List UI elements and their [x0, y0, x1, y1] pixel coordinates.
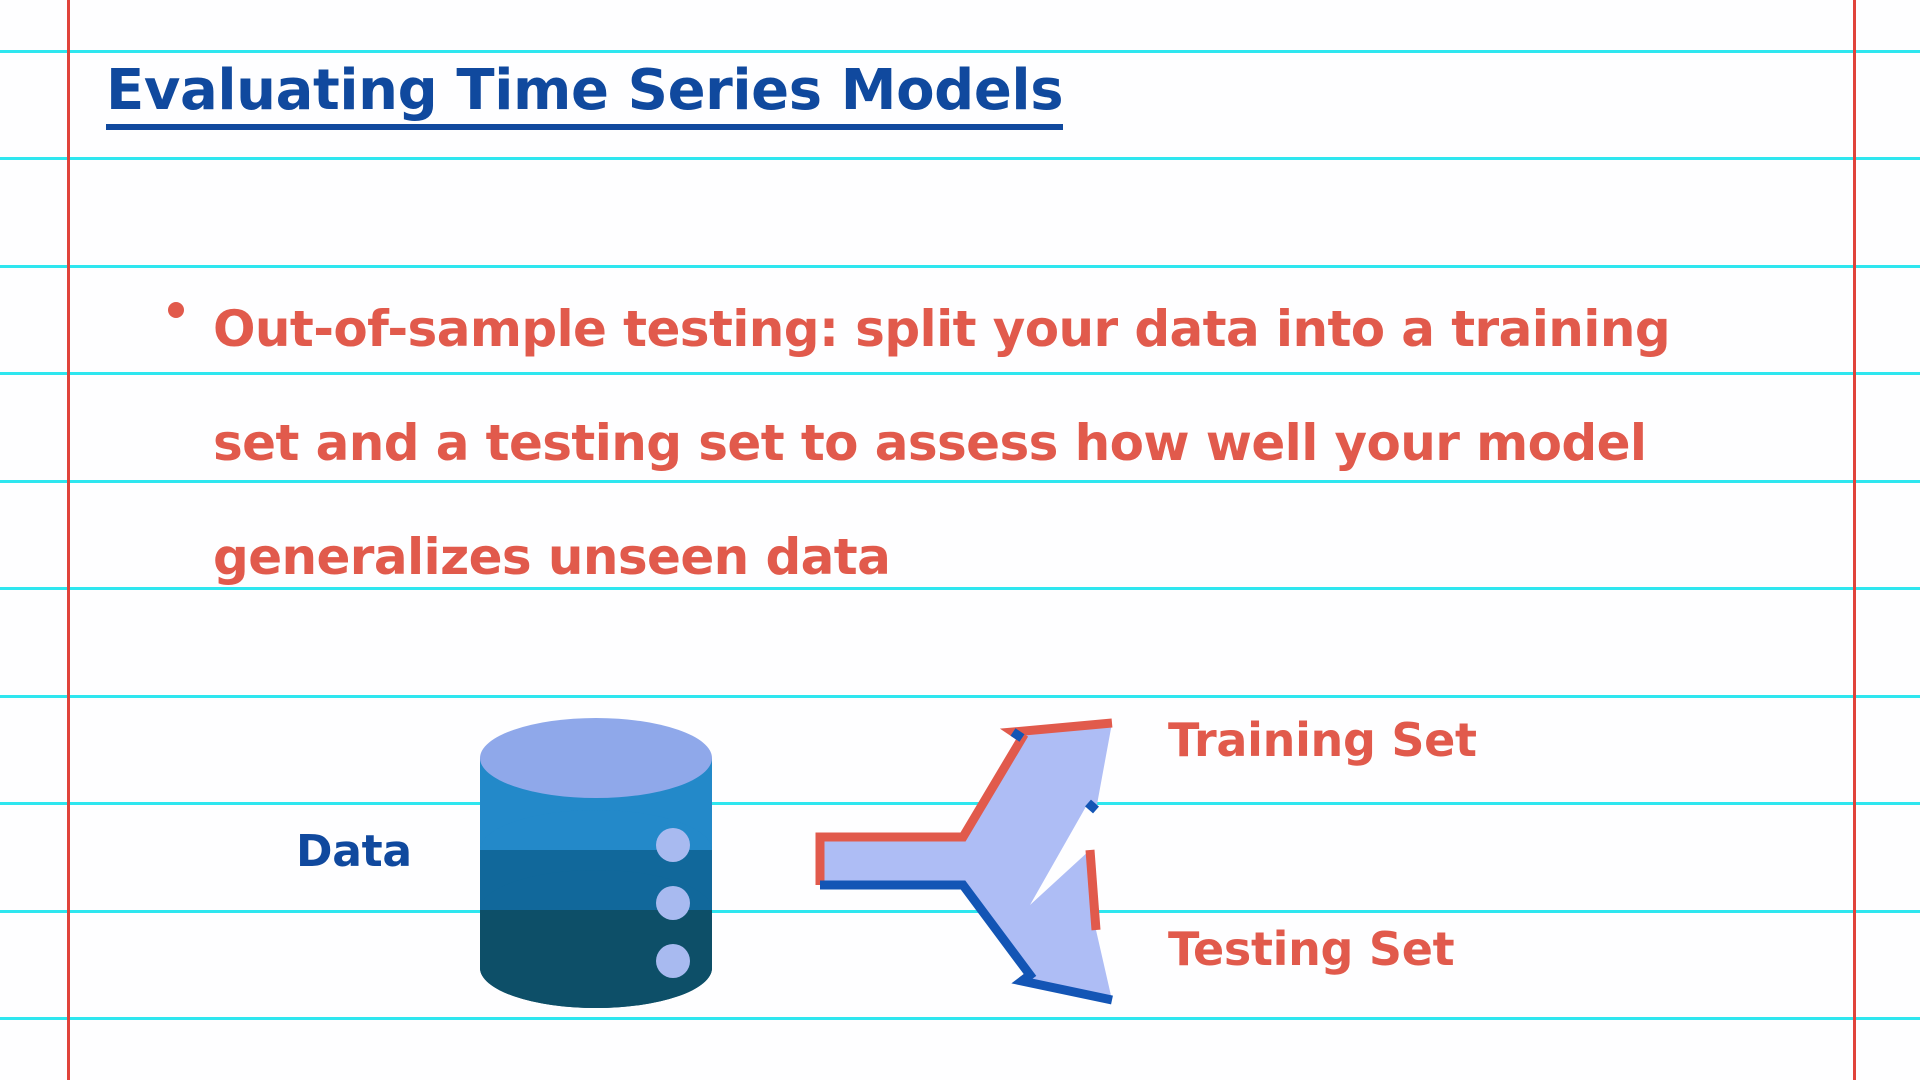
bullet-text: Out-of-sample testing: split your data i… — [213, 272, 1743, 614]
ruled-line-0 — [0, 50, 1920, 53]
title-block: Evaluating Time Series Models — [106, 62, 1063, 130]
page-title: Evaluating Time Series Models — [106, 62, 1063, 130]
ruled-line-2 — [0, 265, 1920, 268]
split-arrow-icon — [800, 690, 1130, 1035]
testing-set-label: Testing Set — [1168, 922, 1454, 976]
training-set-label: Training Set — [1168, 713, 1477, 767]
slide-canvas: Evaluating Time Series Models Out-of-sam… — [0, 0, 1920, 1080]
bullet-dot-icon — [168, 302, 184, 318]
database-cylinder-icon — [476, 718, 716, 1023]
list-item: Out-of-sample testing: split your data i… — [168, 272, 1788, 614]
data-label: Data — [296, 826, 412, 877]
body-content: Out-of-sample testing: split your data i… — [168, 272, 1788, 614]
ruled-line-1 — [0, 157, 1920, 160]
